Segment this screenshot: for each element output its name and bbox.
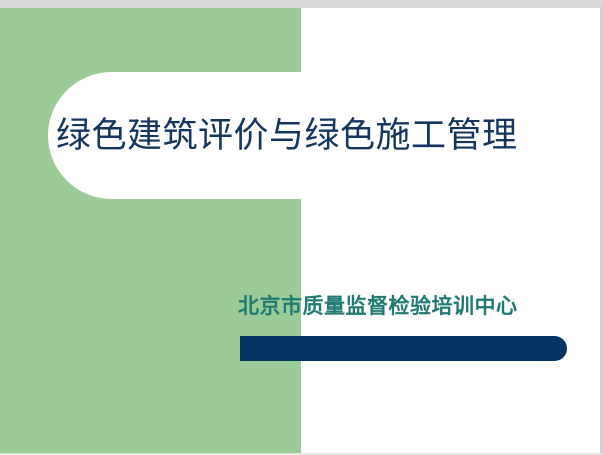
slide-subtitle: 北京市质量监督检验培训中心	[238, 290, 518, 320]
slide-canvas: 绿色建筑评价与绿色施工管理 北京市质量监督检验培训中心	[0, 0, 603, 455]
slide-title: 绿色建筑评价与绿色施工管理	[56, 104, 576, 168]
navy-underline-bar	[240, 336, 567, 361]
slide-content-area: 绿色建筑评价与绿色施工管理 北京市质量监督检验培训中心	[0, 8, 600, 453]
